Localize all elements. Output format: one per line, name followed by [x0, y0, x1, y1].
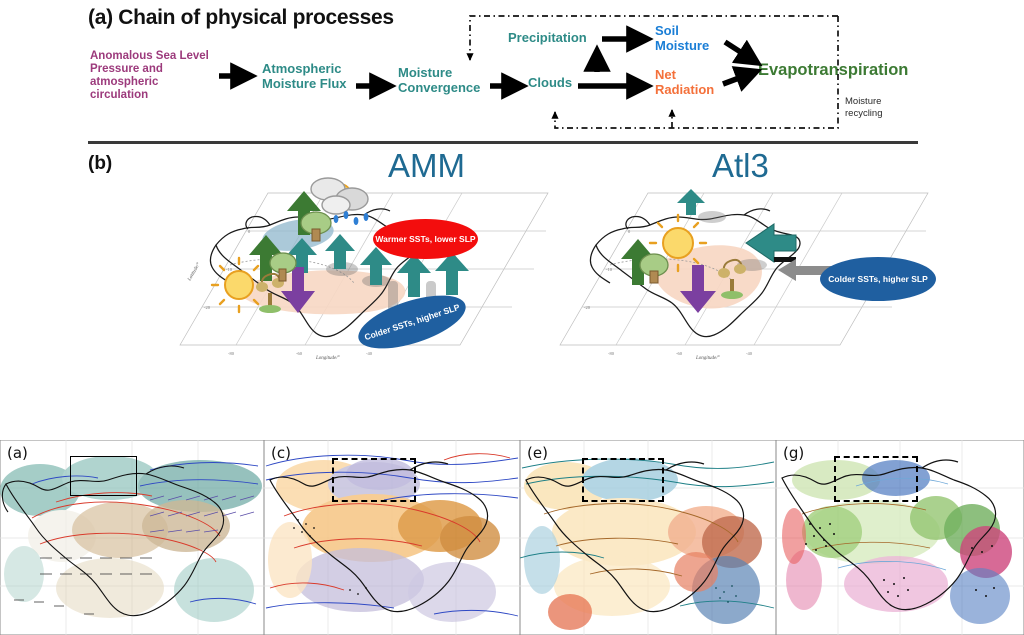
map-panel-g-region-box — [834, 456, 918, 502]
amm-xaxis-label: Longitude/° — [315, 356, 340, 361]
map-panel-g-label: (g) — [783, 444, 804, 462]
atl3-map: Longitude/° -80-60-40 -20-100 Colder SST… — [540, 173, 960, 363]
svg-text:-40: -40 — [746, 351, 753, 356]
panel-a-flowchart: (a) Chain of physical processes Anomalou… — [0, 0, 1024, 145]
svg-text:-20: -20 — [204, 305, 211, 310]
amm-yaxis-label: Latitude/° — [187, 262, 202, 283]
map-panel-e-region-box — [582, 458, 664, 502]
map-panel-g: (g) — [776, 440, 1024, 635]
svg-text:-40: -40 — [366, 351, 373, 356]
map-panel-c: (c) — [264, 440, 520, 635]
map-panel-c-label: (c) — [271, 444, 291, 462]
callout-amm-warmer-ssts: Warmer SSTs, lower SLP — [373, 219, 478, 259]
flowchart-arrows — [0, 0, 1024, 145]
section-divider — [88, 141, 918, 144]
figure-root: (a) Chain of physical processes Anomalou… — [0, 0, 1024, 635]
panel-b-label: (b) — [88, 153, 112, 175]
svg-text:-10: -10 — [606, 267, 613, 272]
map-panel-c-region-box — [332, 458, 416, 502]
callout-atl3-colder-ssts: Colder SSTs, higher SLP — [820, 257, 936, 301]
map-panel-a-label: (a) — [7, 444, 28, 462]
bottom-map-row: (a) — [0, 440, 1024, 635]
svg-text:-60: -60 — [676, 351, 683, 356]
map-panel-e-label: (e) — [527, 444, 548, 462]
panel-b-schematic: (b) AMM Atl3 — [0, 145, 1024, 440]
svg-text:-10: -10 — [226, 267, 233, 272]
svg-text:-60: -60 — [296, 351, 303, 356]
map-panel-e: (e) — [520, 440, 776, 635]
map-panel-a-region-box — [70, 456, 137, 496]
svg-text:-20: -20 — [584, 305, 591, 310]
map-panel-a: (a) — [0, 440, 264, 635]
atl3-xaxis-label: Longitude/° — [695, 356, 720, 361]
amm-map: Longitude/° Latitude/° -80-60-40 -20-100… — [120, 173, 550, 363]
svg-text:-80: -80 — [228, 351, 235, 356]
svg-text:-80: -80 — [608, 351, 615, 356]
